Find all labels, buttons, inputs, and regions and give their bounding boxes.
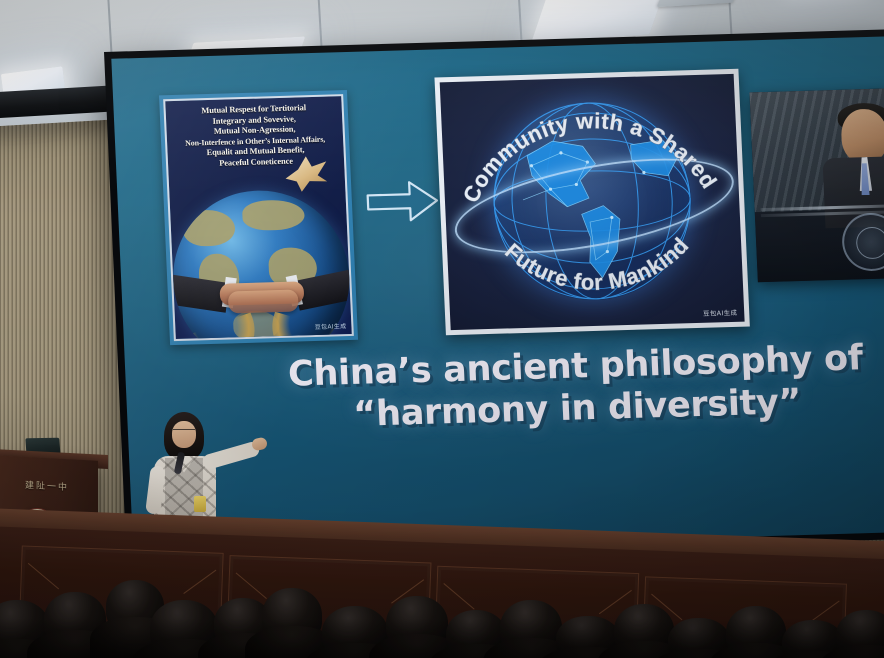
photo-vignette (0, 0, 884, 658)
lecture-hall-photo: Mutual Respest for Tertitorial Integrary… (0, 0, 884, 658)
